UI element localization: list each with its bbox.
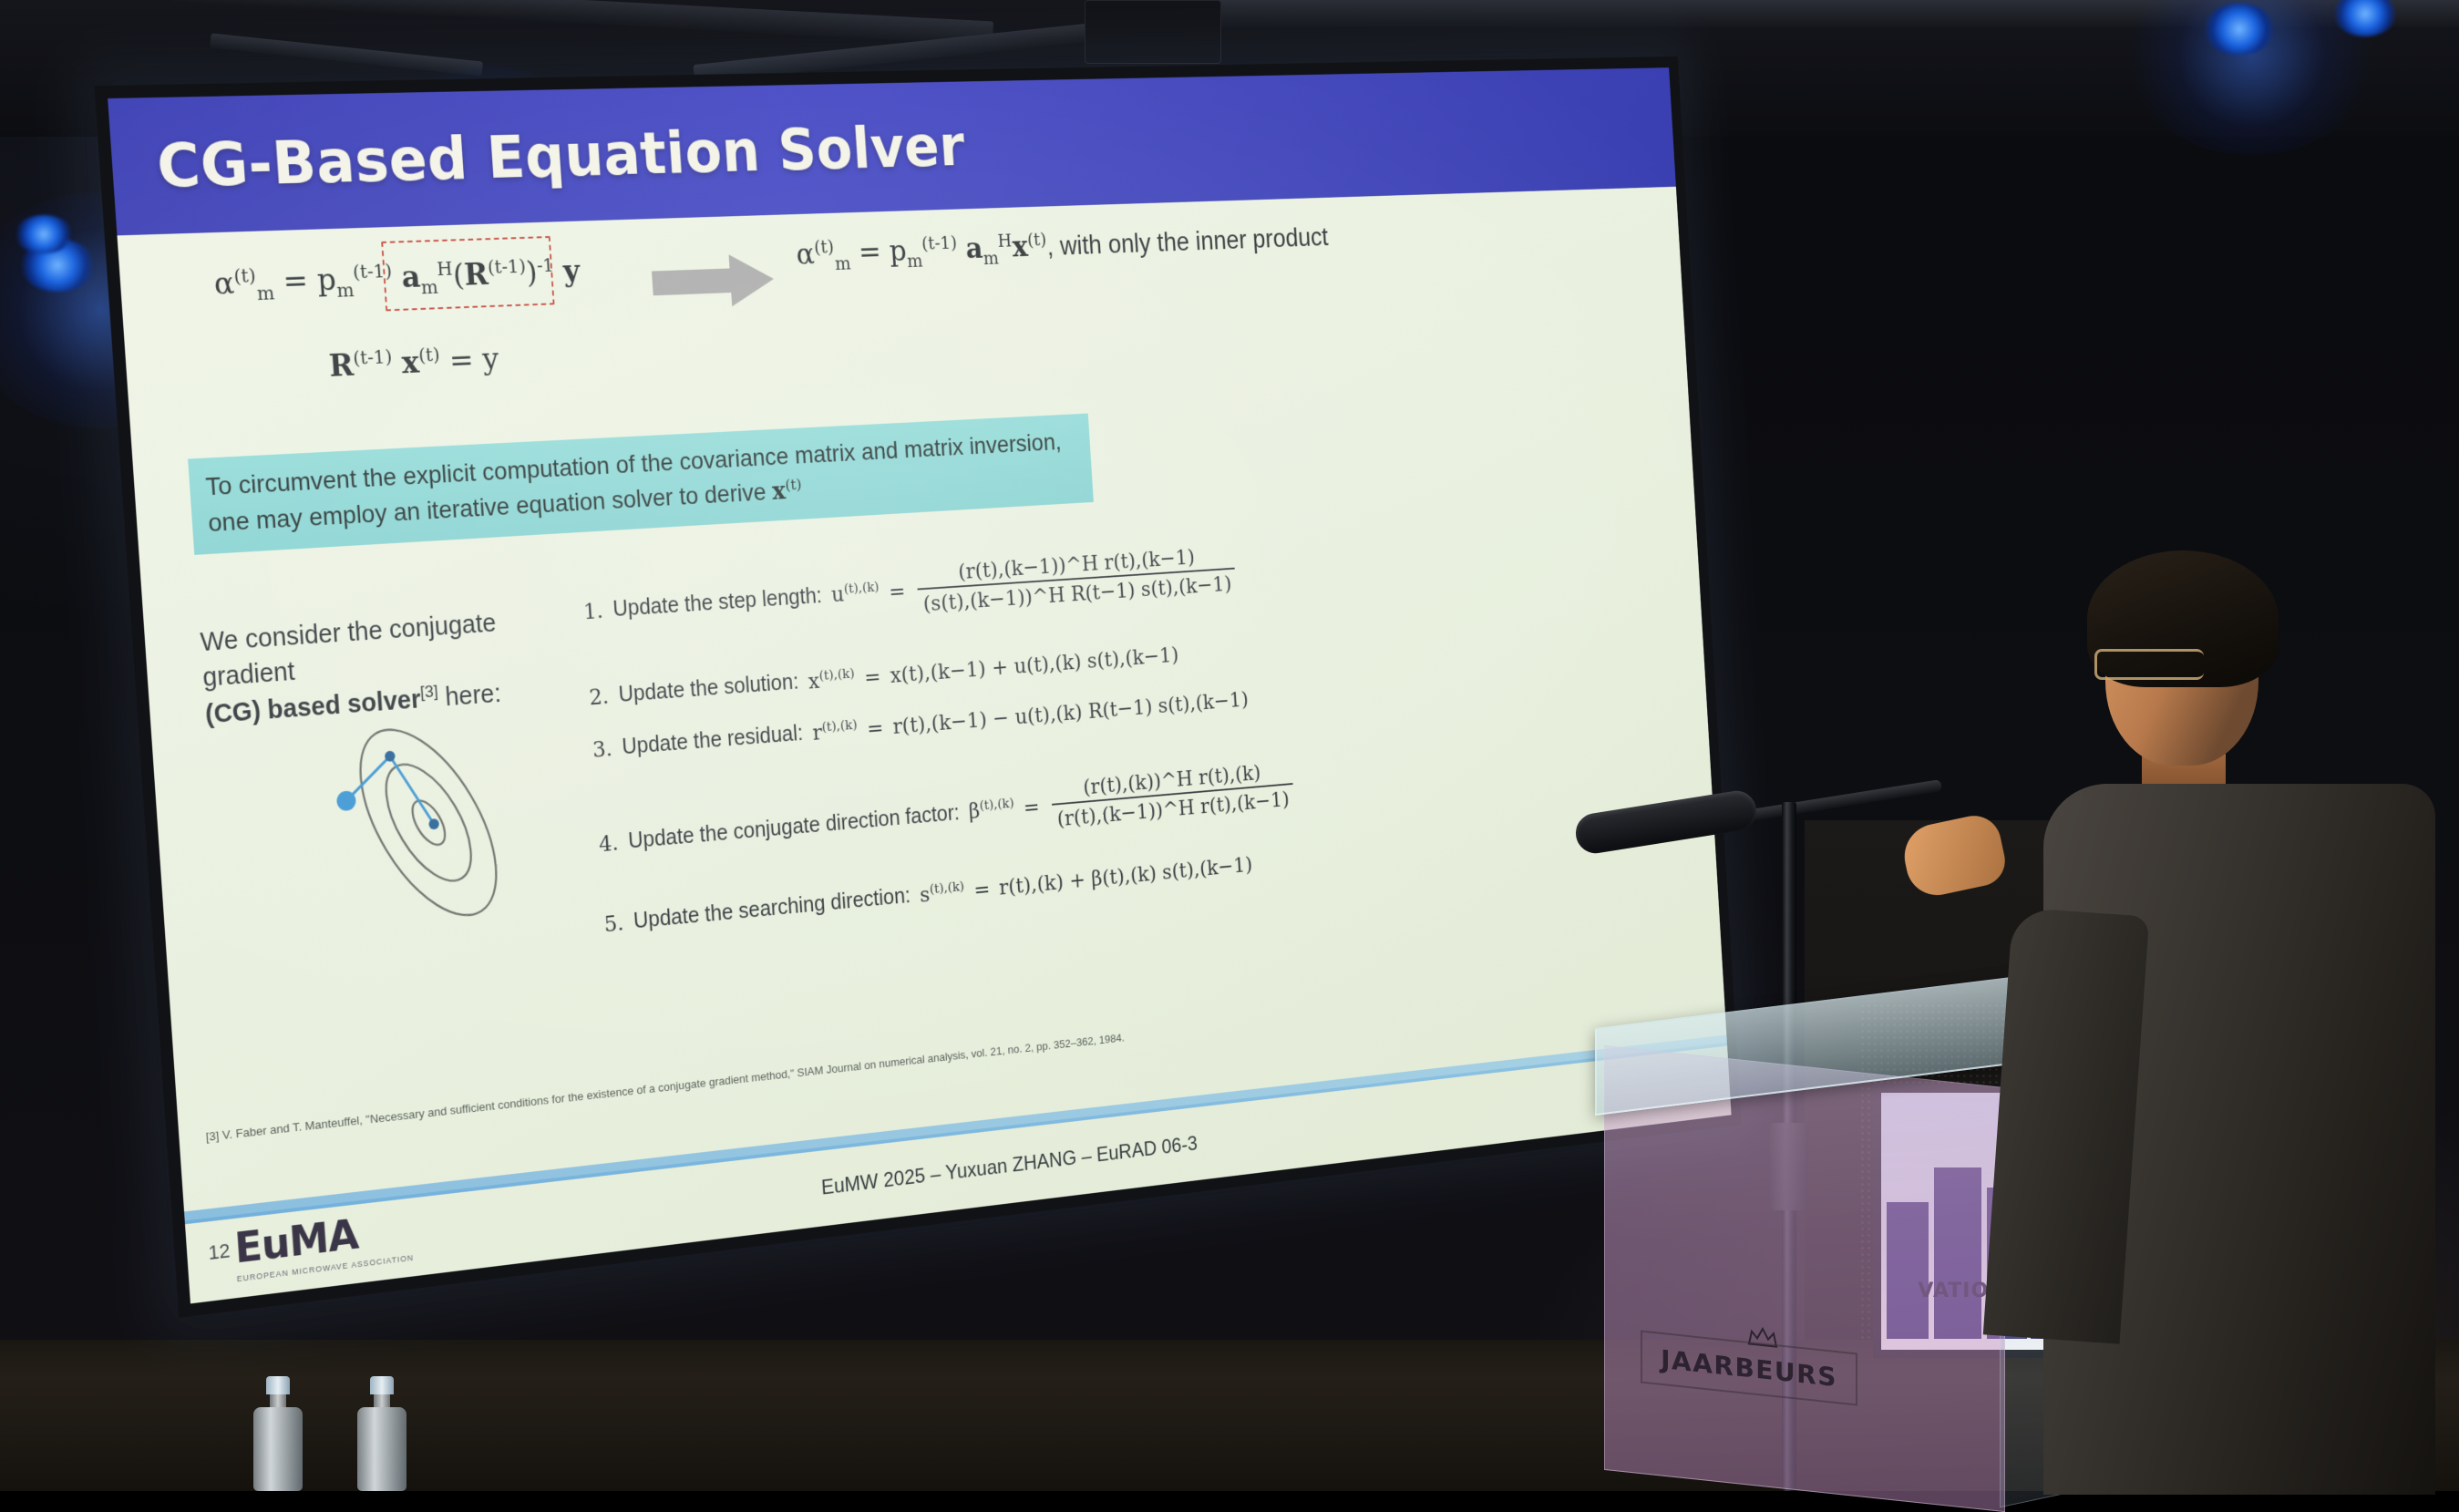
callout-var-sup: (t) <box>785 476 802 494</box>
step-lhs: s(t),(k) <box>919 879 965 908</box>
list-item: 1. Update the step length: u(t),(k) = (r… <box>573 541 1240 640</box>
inverse-highlight-box <box>381 236 554 311</box>
eq-sub: m <box>256 282 275 304</box>
venue-name: JAARBEURS <box>1661 1343 1837 1392</box>
implication-arrow-icon <box>651 252 776 316</box>
light-fixture <box>1085 0 1221 64</box>
eq-sub: m <box>336 279 355 302</box>
step-fraction: (r(t),(k−1))^H r(t),(k−1) (s(t),(k−1))^H… <box>916 542 1237 617</box>
eq-sub: m <box>834 252 851 274</box>
step-number: 4. <box>590 829 620 857</box>
step-rhs: r(t),(k−1) − u(t),(k) R(t−1) s(t),(k−1) <box>892 687 1250 739</box>
bottle-neck <box>270 1394 286 1407</box>
step-rhs: r(t),(k) + β(t),(k) s(t),(k−1) <box>998 852 1252 900</box>
step-label: Update the residual: <box>622 721 804 760</box>
step-rhs: x(t),(k−1) + u(t),(k) s(t),(k−1) <box>890 643 1179 688</box>
step-lhs: r(t),(k) <box>812 716 859 745</box>
bottle-body <box>357 1407 406 1491</box>
eq-sup: (t) <box>417 343 440 365</box>
eq-tail-text: , with only the inner product <box>1046 222 1330 262</box>
step-equals: = <box>863 663 881 689</box>
equation-right-main: α(t)m = pm(t-1) amHx(t), with only the i… <box>795 219 1329 275</box>
eq-equals: = y <box>448 342 500 379</box>
eq-sup: (t) <box>813 235 834 257</box>
page-title: CG-Based Equation Solver <box>110 113 967 202</box>
eq-y: y <box>562 254 581 290</box>
step-label: Update the searching direction: <box>633 883 911 934</box>
eq-sub: m <box>907 250 924 272</box>
cg-convergence-diagram <box>256 677 613 967</box>
list-item: 4. Update the conjugate direction factor… <box>589 757 1298 872</box>
step-label: Update the solution: <box>618 670 799 708</box>
eq-alpha: α <box>213 266 236 303</box>
eq-sup: (t) <box>233 263 257 287</box>
step-number: 3. <box>583 735 613 763</box>
euma-logo: EuMA EUROPEAN MICROWAVE ASSOCIATION <box>233 1204 415 1284</box>
presenter-person <box>2023 547 2459 1491</box>
step-lhs: β(t),(k) <box>968 796 1015 824</box>
step-equals: = <box>1023 794 1040 819</box>
eq-p: p <box>316 262 337 299</box>
eq-sup: (t) <box>1026 229 1046 251</box>
screen-border: CG-Based Equation Solver α(t)m = pm(t-1)… <box>94 57 1741 1318</box>
step-number: 1. <box>574 597 604 624</box>
list-item: 5. Update the searching direction: s(t),… <box>595 852 1253 939</box>
step-fraction: (r(t),(k))^H r(t),(k) (r(t),(k−1))^H r(t… <box>1050 757 1294 831</box>
eq-R: R <box>328 348 355 385</box>
footer-conference-line: EuMW 2025 – Yuxuan ZHANG – EuRAD 06-3 <box>820 1132 1198 1200</box>
eq-sup: (t-1) <box>921 231 957 254</box>
bottle-body <box>253 1407 303 1491</box>
step-label: Update the conjugate direction factor: <box>627 800 960 854</box>
eq-sub: m <box>983 247 999 269</box>
water-bottle <box>253 1376 303 1491</box>
eq-x: x <box>401 345 421 382</box>
step-equals: = <box>866 715 884 741</box>
stage-light-blue <box>15 215 73 253</box>
eq-a: a <box>964 231 983 266</box>
presentation-slide: CG-Based Equation Solver α(t)m = pm(t-1)… <box>108 67 1731 1303</box>
slide-number: 12 <box>208 1239 231 1265</box>
step-lhs: x(t),(k) <box>808 665 856 694</box>
step-number: 2. <box>580 684 610 711</box>
stage-light-blue <box>2204 4 2275 55</box>
eq-p: p <box>889 234 908 269</box>
eq-equals: = <box>858 235 882 270</box>
callout-box: To circumvent the explicit computation o… <box>188 414 1094 555</box>
water-bottle <box>357 1376 406 1491</box>
step-equals: = <box>888 578 906 603</box>
bottle-cap <box>266 1376 290 1394</box>
slide-body: α(t)m = pm(t-1) amH(R(t-1))-1 y R(t-1) x… <box>117 187 1731 1304</box>
bottle-neck <box>374 1394 390 1407</box>
equation-left-second: R(t-1) x(t) = y <box>328 341 500 385</box>
step-number: 5. <box>595 910 625 939</box>
eyeglasses <box>2094 649 2204 680</box>
eq-sup: (t-1) <box>352 345 392 368</box>
step-lhs: u(t),(k) <box>830 580 880 608</box>
podium-front-panel <box>1604 1045 2005 1512</box>
step-equals: = <box>973 876 991 901</box>
bottle-cap <box>370 1376 394 1394</box>
step-label: Update the step length: <box>612 583 823 622</box>
eq-alpha: α <box>795 237 815 272</box>
eq-equals: = <box>282 263 309 300</box>
projection-screen: CG-Based Equation Solver α(t)m = pm(t-1)… <box>94 57 1741 1318</box>
